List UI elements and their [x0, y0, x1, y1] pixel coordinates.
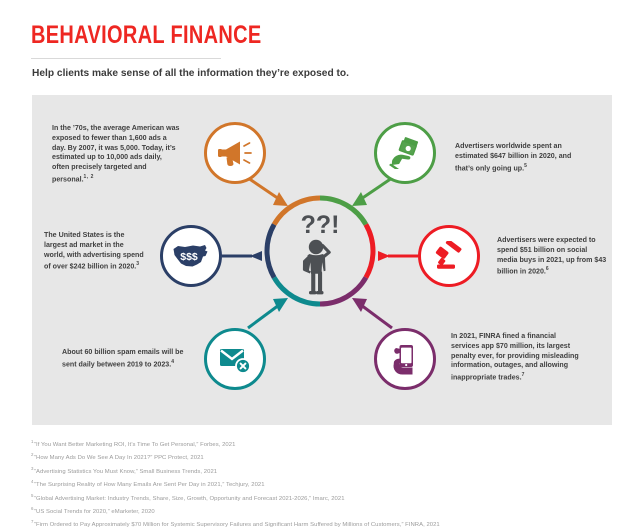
- callout-social-media-spend: Advertisers were expected to spend $51 b…: [497, 236, 607, 278]
- page-title: BEHAVIORAL FINANCE: [31, 22, 495, 49]
- callout-refs: 4: [171, 359, 174, 365]
- node-ads-per-day[interactable]: [204, 122, 266, 184]
- footnote-text: “Firm Ordered to Pay Approximately $70 M…: [34, 522, 440, 528]
- footnote-text: “The Surprising Reality of How Many Emai…: [34, 482, 265, 488]
- title-divider: [31, 58, 221, 59]
- envelope-x-icon: [219, 345, 251, 373]
- callout-ads-per-day: In the ’70s, the average American was ex…: [52, 124, 180, 185]
- callout-us-ad-market: The United States is the largest ad mark…: [44, 231, 144, 273]
- callout-refs: 1, 2: [84, 174, 94, 180]
- callout-global-ad-spend: Advertisers worldwide spent an estimated…: [455, 142, 585, 174]
- callout-text: In 2021, FINRA fined a financial service…: [451, 332, 579, 382]
- hand-money-icon: [389, 137, 421, 169]
- node-us-ad-market[interactable]: $$$: [160, 225, 222, 287]
- callout-refs: 5: [524, 163, 527, 169]
- footnote-text: “US Social Trends for 2020,” eMarketer, …: [34, 509, 155, 515]
- page-header: BEHAVIORAL FINANCE Help clients make sen…: [31, 22, 611, 49]
- megaphone-icon: [218, 138, 252, 168]
- svg-text:$$$: $$$: [180, 251, 198, 263]
- callout-text: In the ’70s, the average American was ex…: [52, 124, 179, 183]
- callout-refs: 3: [136, 261, 139, 267]
- footnote-text: “Global Advertising Market: Industry Tre…: [34, 495, 345, 501]
- footnote-list: 1“If You Want Better Marketing ROI, It’s…: [31, 437, 631, 531]
- node-social-media-spend[interactable]: [418, 225, 480, 287]
- footnote-item: 1“If You Want Better Marketing ROI, It’s…: [31, 437, 631, 450]
- page-subtitle: Help clients make sense of all the infor…: [32, 66, 349, 80]
- callout-spam-emails: About 60 billion spam emails will be sen…: [62, 348, 187, 370]
- gavel-icon: [433, 241, 465, 271]
- footnote-text: “Advertising Statistics You Must Know,” …: [34, 469, 217, 475]
- callout-text: Advertisers worldwide spent an estimated…: [455, 142, 571, 172]
- us-map-dollars-icon: $$$: [172, 243, 210, 269]
- footnote-item: 5“Global Advertising Market: Industry Tr…: [31, 491, 631, 504]
- callout-finra-fine: In 2021, FINRA fined a financial service…: [451, 332, 579, 383]
- footnote-item: 3“Advertising Statistics You Must Know,”…: [31, 464, 631, 477]
- callout-text: The United States is the largest ad mark…: [44, 231, 144, 271]
- node-global-ad-spend[interactable]: [374, 122, 436, 184]
- footnote-item: 6“US Social Trends for 2020,” eMarketer,…: [31, 504, 631, 517]
- footnote-item: 4“The Surprising Reality of How Many Ema…: [31, 477, 631, 490]
- node-spam-emails[interactable]: [204, 328, 266, 390]
- callout-refs: 7: [522, 372, 525, 378]
- footnote-text: “If You Want Better Marketing ROI, It’s …: [34, 442, 235, 448]
- hand-phone-icon: [391, 343, 419, 375]
- callout-text: About 60 billion spam emails will be sen…: [62, 348, 183, 368]
- footnote-item: 2“How Many Ads Do We See A Day In 2021?”…: [31, 450, 631, 463]
- callout-refs: 6: [546, 266, 549, 272]
- node-finra-fine[interactable]: [374, 328, 436, 390]
- callout-text: Advertisers were expected to spend $51 b…: [497, 236, 606, 276]
- footnote-text: “How Many Ads Do We See A Day In 2021?” …: [34, 455, 204, 461]
